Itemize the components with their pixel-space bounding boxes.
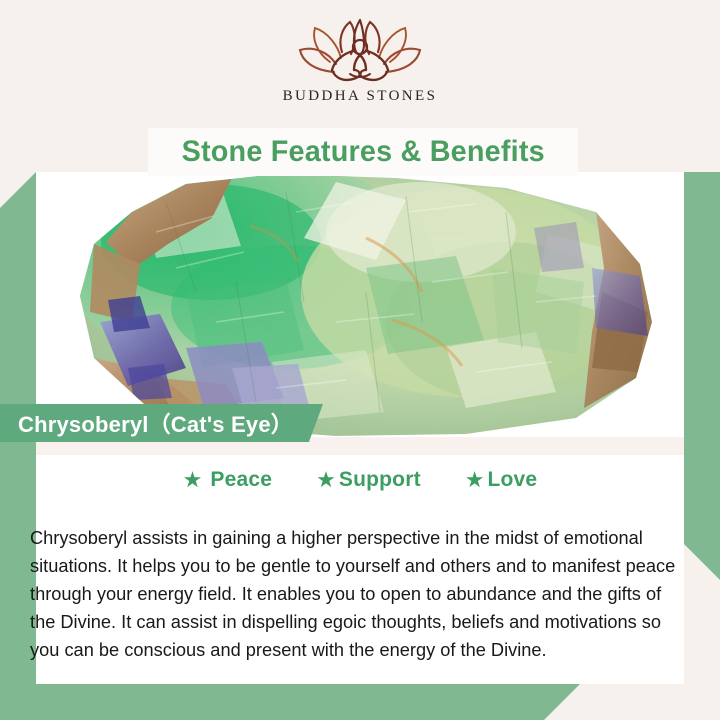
keyword-label: Peace xyxy=(210,468,272,492)
keyword-label: Love xyxy=(488,468,538,492)
brand-logo: BUDDHA STONES xyxy=(0,18,720,105)
keyword-row: ★ Peace ★ Support ★ Love xyxy=(36,462,684,498)
title-banner: Stone Features & Benefits xyxy=(148,128,578,176)
lotus-meditation-icon xyxy=(294,18,426,84)
frame-band-bottom xyxy=(0,684,580,720)
stone-name-label: Chrysoberyl（Cat's Eye） xyxy=(18,407,293,439)
star-icon: ★ xyxy=(465,469,485,491)
stone-info-card: BUDDHA STONES Stone Features & Benefits … xyxy=(0,0,720,720)
stone-photo xyxy=(36,172,684,437)
keyword-love: ★ Love xyxy=(465,468,538,492)
keyword-support: ★ Support xyxy=(316,468,421,492)
page-title: Stone Features & Benefits xyxy=(181,135,544,169)
stone-name-badge: Chrysoberyl（Cat's Eye） xyxy=(0,404,323,442)
keyword-peace: ★ Peace xyxy=(183,468,272,492)
brand-name: BUDDHA STONES xyxy=(0,88,720,105)
stone-description: Chrysoberyl assists in gaining a higher … xyxy=(30,524,680,664)
star-icon: ★ xyxy=(183,469,203,491)
keyword-label: Support xyxy=(339,468,421,492)
stone-photo-illustration xyxy=(36,172,684,437)
star-icon: ★ xyxy=(316,469,336,491)
